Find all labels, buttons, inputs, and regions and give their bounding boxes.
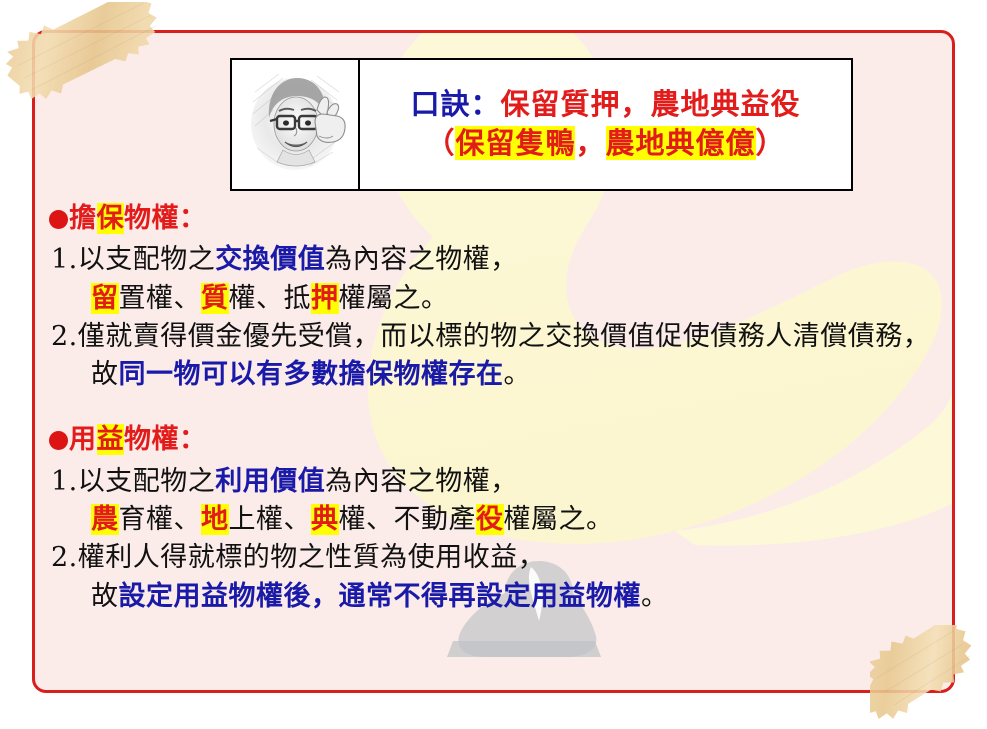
- item-pre: 僅就賣得價金優先受償，而以標的物之交換價值促使債務人清償債務，: [78, 321, 931, 352]
- section-heading-collateral: 擔保物權：: [49, 201, 948, 237]
- sub-part: 育權、: [119, 504, 202, 535]
- mnemonic-line-1: 口訣：保留質押，農地典益役: [410, 85, 800, 123]
- sub-part: 。: [641, 581, 669, 612]
- section-spacer: [49, 394, 948, 422]
- item-pre: 權利人得就標的物之性質為使用收益，: [78, 542, 546, 573]
- heading-colon: ：: [179, 424, 207, 455]
- portrait-sketch-icon: [239, 66, 351, 184]
- sub-part: 權屬之。: [504, 504, 614, 535]
- item-number: 1.: [51, 466, 78, 497]
- mnemonic-table: 口訣：保留質押，農地典益役 （保留隻鴨，農地典億億）: [230, 58, 853, 191]
- heading-part-b: 物權: [124, 203, 179, 234]
- list-item-subline: 故同一物可以有多數擔保物權存在。: [49, 356, 948, 394]
- sub-part: 置權、: [119, 283, 202, 314]
- sub-part: 押: [311, 283, 339, 314]
- item-pre: 以支配物之: [78, 244, 216, 275]
- item-emphasis: 交換價值: [215, 244, 325, 275]
- item-post: 為內容之物權，: [325, 244, 518, 275]
- bullet-dot-icon: [49, 431, 68, 450]
- sub-part: 役: [476, 504, 504, 535]
- slide-canvas: 口訣：保留質押，農地典益役 （保留隻鴨，農地典億億） 擔保物權： 1.以支配物之…: [0, 0, 987, 729]
- mnemonic-label: 口訣：: [410, 87, 500, 121]
- sub-part: 典: [311, 504, 339, 535]
- sub-part: 設定用益物權後，通常不得再設定用益物權: [119, 581, 642, 612]
- sub-part: 故: [91, 359, 119, 390]
- mnemonic-text-cell: 口訣：保留質押，農地典益役 （保留隻鴨，農地典億億）: [360, 60, 851, 189]
- item-number: 1.: [51, 244, 78, 275]
- sub-part: 同一物可以有多數擔保物權存在: [119, 359, 504, 390]
- masking-tape-top-left-icon: [2, 2, 172, 112]
- list-item: 1.以支配物之利用價值為內容之物權，: [49, 463, 948, 501]
- list-item: 1.以支配物之交換價值為內容之物權，: [49, 241, 948, 279]
- heading-highlight: 保: [97, 203, 125, 234]
- list-item-subline: 留置權、質權、抵押權屬之。: [49, 280, 948, 318]
- item-pre: 以支配物之: [78, 466, 216, 497]
- mnemonic-segment-b: 農地典億億: [606, 126, 756, 160]
- sub-part: 權、不動產: [339, 504, 477, 535]
- sub-part: 上權、: [229, 504, 312, 535]
- item-post: 為內容之物權，: [325, 466, 518, 497]
- sub-part: 權屬之。: [339, 283, 449, 314]
- sub-part: 地: [201, 504, 229, 535]
- heading-part-a: 擔: [69, 203, 97, 234]
- slide-frame: 口訣：保留質押，農地典益役 （保留隻鴨，農地典億億） 擔保物權： 1.以支配物之…: [32, 30, 955, 693]
- list-item-subline: 故設定用益物權後，通常不得再設定用益物權。: [49, 578, 948, 616]
- mnemonic-phrase: 保留質押，農地典益役: [501, 87, 801, 121]
- masking-tape-bottom-right-icon: [870, 625, 986, 727]
- sub-part: 農: [91, 504, 119, 535]
- item-number: 2.: [51, 321, 78, 352]
- mnemonic-segment-a: 保留隻鴨: [455, 126, 575, 160]
- mnemonic-comma: ，: [575, 126, 605, 160]
- list-item-subline: 農育權、地上權、典權、不動產役權屬之。: [49, 501, 948, 539]
- heading-part-b: 物權: [124, 424, 179, 455]
- sub-part: 質: [201, 283, 229, 314]
- sub-part: 權、抵: [229, 283, 312, 314]
- heading-colon: ：: [179, 203, 207, 234]
- heading-part-a: 用: [69, 424, 97, 455]
- item-number: 2.: [51, 542, 78, 573]
- list-item: 2.權利人得就標的物之性質為使用收益，: [49, 539, 948, 577]
- sub-part: 。: [504, 359, 532, 390]
- content-body: 擔保物權： 1.以支配物之交換價值為內容之物權， 留置權、質權、抵押權屬之。 2…: [35, 201, 955, 616]
- sub-part: 留: [91, 283, 119, 314]
- portrait-cell: [232, 60, 360, 189]
- heading-highlight: 益: [97, 424, 125, 455]
- mnemonic-line-2: （保留隻鴨，農地典億億）: [425, 124, 785, 162]
- list-item: 2.僅就賣得價金優先受償，而以標的物之交換價值促使債務人清償債務，: [49, 318, 948, 356]
- item-emphasis: 利用價值: [215, 466, 325, 497]
- mnemonic-close-paren: ）: [756, 126, 786, 160]
- mnemonic-open-paren: （: [425, 126, 455, 160]
- section-heading-usufruct: 用益物權：: [49, 422, 948, 458]
- bullet-dot-icon: [49, 210, 68, 229]
- sub-part: 故: [91, 581, 119, 612]
